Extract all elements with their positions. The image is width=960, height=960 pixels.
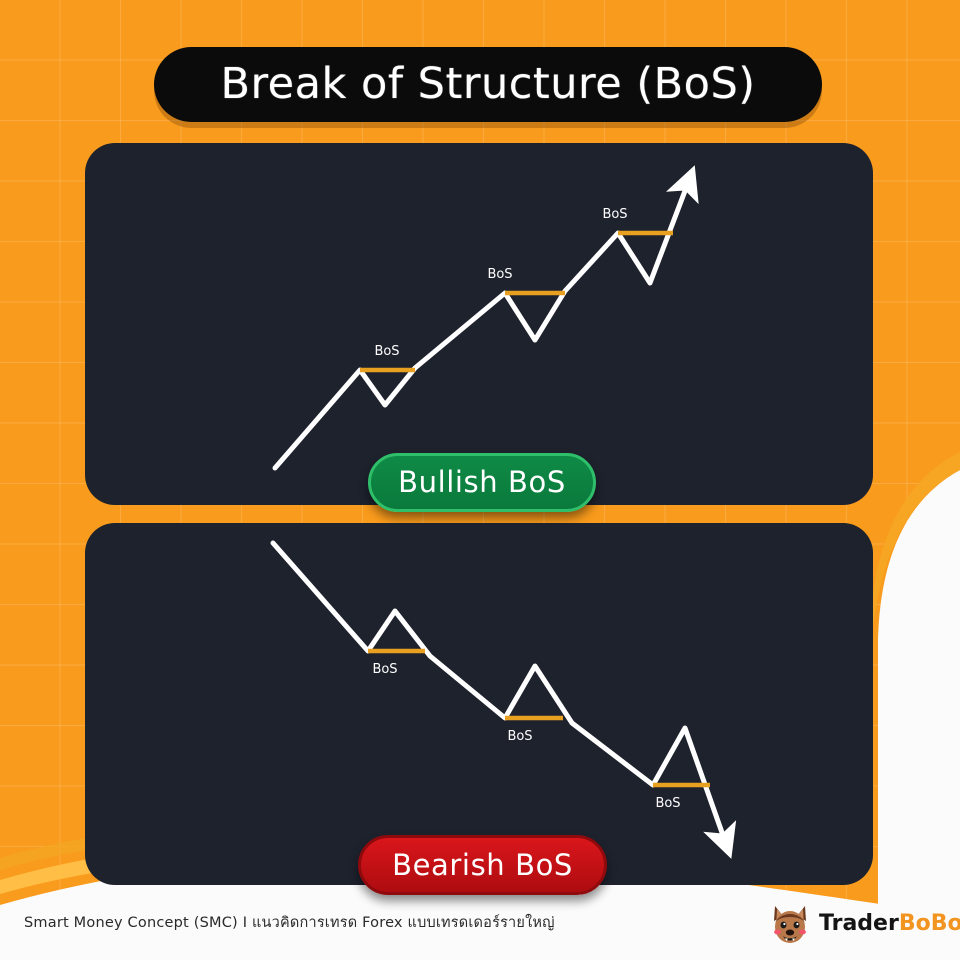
page-title: Break of Structure (BoS) — [154, 47, 822, 122]
bos-label-1: BoS — [372, 662, 397, 677]
bullish-price-line — [275, 183, 688, 468]
bos-label-2: BoS — [507, 729, 532, 744]
brand-name-secondary: BoBo — [899, 911, 960, 936]
chart-panel-bullish: BoS BoS BoS — [85, 143, 873, 505]
bos-label-2: BoS — [487, 267, 512, 282]
badge-bearish-label: Bearish BoS — [392, 851, 573, 880]
infographic-canvas: Break of Structure (BoS) BoS BoS BoS Bul… — [0, 0, 960, 960]
bos-label-1: BoS — [374, 344, 399, 359]
brand-logo: TraderBoBo — [770, 900, 960, 948]
page-title-text: Break of Structure (BoS) — [220, 63, 755, 106]
badge-bullish-label: Bullish BoS — [398, 468, 566, 497]
bearish-bos-chart: BoS BoS BoS — [85, 523, 873, 885]
bos-label-3: BoS — [655, 796, 680, 811]
badge-bearish-bos: Bearish BoS — [358, 835, 607, 895]
dog-mascot-icon — [770, 901, 810, 947]
badge-bullish-bos: Bullish BoS — [368, 453, 596, 512]
bos-label-3: BoS — [602, 207, 627, 222]
brand-name-primary: Trader — [819, 911, 899, 936]
chart-panel-bearish: BoS BoS BoS — [85, 523, 873, 885]
footer-caption: Smart Money Concept (SMC) I แนวคิดการเทร… — [24, 911, 644, 934]
bullish-bos-chart: BoS BoS BoS — [85, 143, 873, 505]
